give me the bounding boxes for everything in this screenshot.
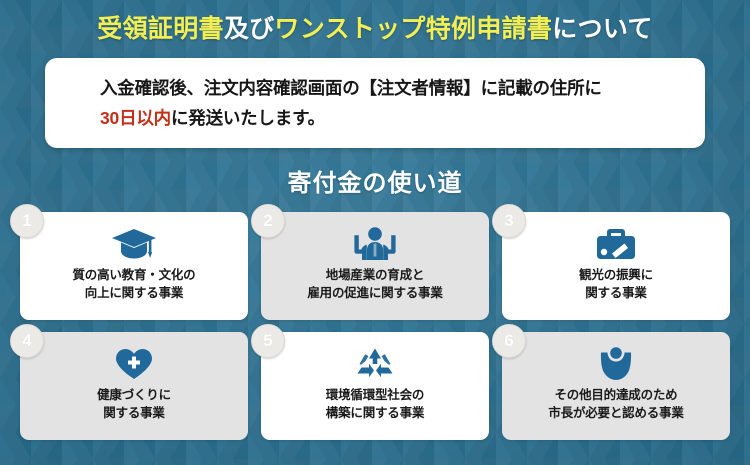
- heart-plus-icon: [114, 345, 154, 383]
- card-number-badge-2: 2: [251, 204, 285, 238]
- card-number-badge-3: 3: [492, 204, 526, 238]
- title-part-4: について: [552, 15, 652, 43]
- info-line-1: 入金確認後、注文内容確認画面の【注文者情報】に記載の住所に: [100, 73, 705, 103]
- info-line-2: 30日以内に発送いたします。: [100, 103, 705, 133]
- usage-card-5[interactable]: 5 環境循環型社会の 構築に関する事業: [261, 332, 489, 440]
- recycle-icon: [356, 345, 394, 383]
- usage-card-1[interactable]: 1 質の高い教育・文化の 向上に関する事業: [20, 212, 248, 320]
- usage-card-label-1-line-2: 向上に関する事業: [72, 284, 195, 302]
- card-number-badge-1: 1: [10, 204, 44, 238]
- title-part-2: 及び: [224, 15, 275, 43]
- usage-card-label-3-line-2: 関する事業: [579, 284, 653, 302]
- title-part-3: ワンストップ特例申請書: [274, 15, 552, 43]
- info-emphasis-deadline: 30日以内: [100, 108, 171, 128]
- section-heading: 寄付金の使い道: [0, 163, 750, 198]
- usage-card-label-2: 地場産業の育成と 雇用の促進に関する事業: [307, 266, 442, 302]
- usage-card-label-3-line-1: 観光の振興に: [579, 266, 653, 284]
- page-root: 受領証明書及びワンストップ特例申請書について 入金確認後、注文内容確認画面の【注…: [0, 0, 750, 465]
- usage-card-grid: 1 質の高い教育・文化の 向上に関する事業 2: [20, 212, 730, 440]
- card-number-badge-5: 5: [251, 324, 285, 358]
- info-line-2-rest: に発送いたします。: [171, 108, 325, 128]
- person-in-hands-icon: [599, 345, 633, 383]
- usage-card-4[interactable]: 4 健康づくりに 関する事業: [20, 332, 248, 440]
- info-box: 入金確認後、注文内容確認画面の【注文者情報】に記載の住所に 30日以内に発送いた…: [45, 58, 705, 148]
- card-number-badge-4: 4: [10, 324, 44, 358]
- usage-card-label-2-line-2: 雇用の促進に関する事業: [307, 284, 442, 302]
- usage-card-label-3: 観光の振興に 関する事業: [579, 266, 653, 302]
- usage-card-label-4: 健康づくりに 関する事業: [97, 386, 171, 422]
- usage-card-label-4-line-1: 健康づくりに: [97, 386, 171, 404]
- usage-card-label-5-line-1: 環境循環型社会の: [326, 386, 424, 404]
- usage-card-label-5: 環境循環型社会の 構築に関する事業: [326, 386, 424, 422]
- person-raised-arms-icon: [353, 225, 397, 263]
- usage-card-label-1: 質の高い教育・文化の 向上に関する事業: [72, 266, 195, 302]
- usage-card-label-5-line-2: 構築に関する事業: [326, 404, 424, 422]
- title-part-1: 受領証明書: [97, 15, 224, 43]
- usage-card-2[interactable]: 2 地場産業の育成と 雇用の促進に関する事業: [261, 212, 489, 320]
- page-title: 受領証明書及びワンストップ特例申請書について: [0, 14, 750, 44]
- usage-card-label-6-line-2: 市長が必要と認める事業: [548, 404, 683, 422]
- usage-card-label-6-line-1: その他目的達成のため: [548, 386, 683, 404]
- usage-card-6[interactable]: 6 その他目的達成のため 市長が必要と認める事業: [502, 332, 730, 440]
- usage-card-3[interactable]: 3 観光の振興に 関する事業: [502, 212, 730, 320]
- usage-card-label-6: その他目的達成のため 市長が必要と認める事業: [548, 386, 683, 422]
- usage-card-label-1-line-1: 質の高い教育・文化の: [72, 266, 195, 284]
- graduation-cap-icon: [111, 225, 157, 263]
- usage-card-label-2-line-1: 地場産業の育成と: [307, 266, 442, 284]
- card-number-badge-6: 6: [492, 324, 526, 358]
- suitcase-icon: [595, 225, 637, 263]
- usage-card-label-4-line-2: 関する事業: [97, 404, 171, 422]
